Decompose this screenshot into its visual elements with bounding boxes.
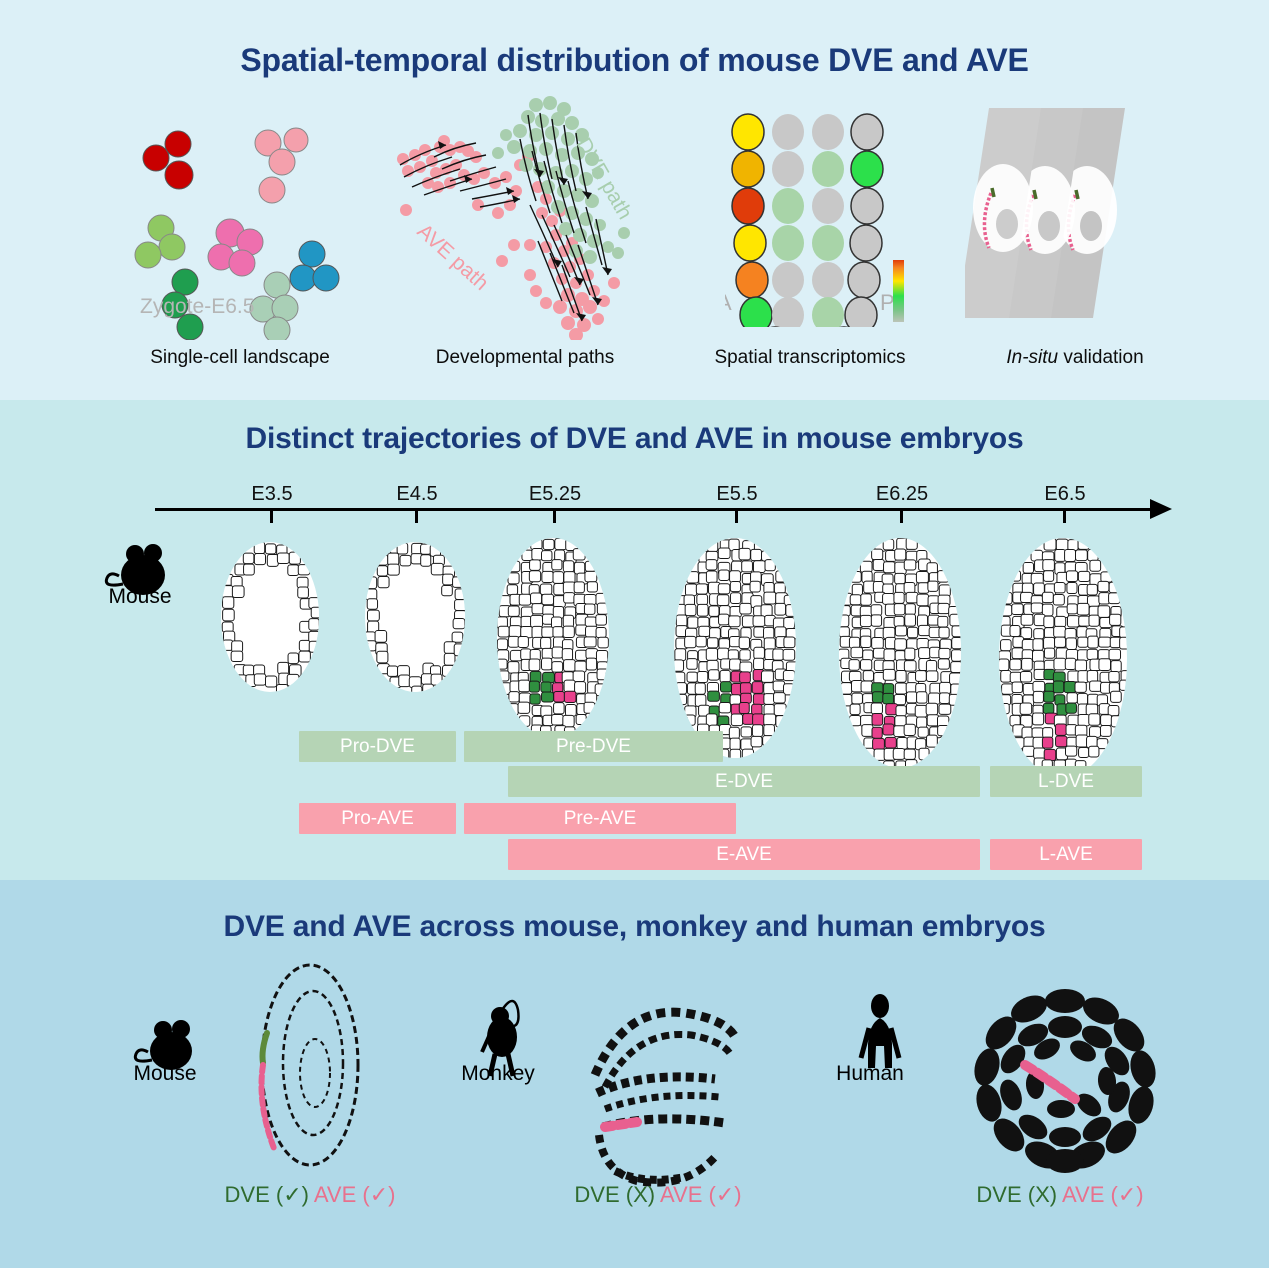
embryo-cell-mosaic (838, 538, 963, 772)
transcriptomics-column-1 (732, 114, 772, 327)
mouse-species-label-timeline: Mouse (108, 585, 171, 609)
stage-bar-l-dve[interactable]: L-DVE (990, 766, 1142, 797)
embryo-E4.5 (355, 532, 475, 702)
stage-bar-pro-ave[interactable]: Pro-AVE (299, 803, 456, 834)
timeline-tick-label-E3.5: E3.5 (251, 483, 292, 506)
timeline-tick-E4.5 (415, 508, 418, 523)
stage-bar-pre-ave[interactable]: Pre-AVE (464, 803, 736, 834)
timeline-tick-label-E4.5: E4.5 (396, 483, 437, 506)
human-embryo-cells (970, 989, 1159, 1174)
zygote-range-label: Zygote-E6.5 (140, 295, 254, 318)
timeline-tick-E5.25 (553, 508, 556, 523)
mouse-dve-verdict: DVE (✓) (225, 1182, 309, 1207)
human-species-label: Human (836, 1062, 904, 1086)
single-cell-landscape-plot: Zygote-E6.5 (120, 100, 410, 340)
timeline-tick-E6.25 (900, 508, 903, 523)
ave-path-label: AVE path (413, 220, 493, 295)
spatial-transcriptomics-plot: A P (725, 112, 905, 327)
insitu-plain-text: validation (1063, 347, 1143, 368)
timeline-tick-E6.5 (1063, 508, 1066, 523)
human-embryo-diagram (965, 985, 1165, 1175)
mouse-species-label-comparison: Mouse (133, 1062, 196, 1086)
insitu-italic-text: In-situ (1006, 347, 1058, 368)
mouse-embryo-diagram (245, 955, 375, 1175)
infographic-figure: Spatial-temporal distribution of mouse D… (0, 0, 1269, 1268)
timeline-tick-label-E6.5: E6.5 (1044, 483, 1085, 506)
stage-bar-pre-dve[interactable]: Pre-DVE (464, 731, 723, 762)
insitu-validation-plot (965, 100, 1175, 340)
embryo-cell-mosaic (999, 538, 1133, 782)
stage-bar-l-ave[interactable]: L-AVE (990, 839, 1142, 870)
human-verdict: DVE (X) AVE (✓) (976, 1182, 1143, 1208)
mouse-ave-verdict: AVE (✓) (314, 1182, 396, 1207)
monkey-ave-verdict: AVE (✓) (660, 1182, 742, 1207)
cluster-magenta (208, 219, 263, 276)
caption-insitu-validation: In-situ validation (960, 347, 1190, 369)
cluster-lightgreen (135, 215, 185, 268)
section-1-title: Spatial-temporal distribution of mouse D… (0, 42, 1269, 79)
stage-bar-e-ave[interactable]: E-AVE (508, 839, 980, 870)
section-3-title: DVE and AVE across mouse, monkey and hum… (0, 910, 1269, 944)
developmental-paths-plot: DVE path AVE path (380, 95, 650, 340)
stage-bar-pro-dve[interactable]: Pro-DVE (299, 731, 456, 762)
human-ave-verdict: AVE (✓) (1062, 1182, 1144, 1207)
caption-spatial-transcriptomics: Spatial transcriptomics (685, 347, 935, 369)
cluster-red (143, 131, 193, 189)
monkey-embryo-diagram (575, 975, 755, 1190)
stage-bar-e-dve[interactable]: E-DVE (508, 766, 980, 797)
cluster-salmon (255, 128, 308, 203)
embryo-E6.25 (829, 528, 971, 778)
mouse-verdict: DVE (✓) AVE (✓) (225, 1182, 396, 1208)
timeline-axis (155, 508, 1165, 511)
section-2-title: Distinct trajectories of DVE and AVE in … (0, 422, 1269, 456)
cluster-blue (290, 241, 339, 291)
human-dve-verdict: DVE (X) (976, 1182, 1057, 1207)
timeline-tick-E5.5 (735, 508, 738, 523)
posterior-axis-label: P (880, 290, 895, 315)
timeline-tick-E3.5 (270, 508, 273, 523)
embryo-E5.25 (487, 528, 619, 748)
timeline-tick-label-E6.25: E6.25 (876, 483, 928, 506)
monkey-species-label: Monkey (461, 1062, 535, 1086)
timeline-arrowhead (1150, 499, 1172, 519)
timeline-tick-label-E5.5: E5.5 (716, 483, 757, 506)
embryo-E6.5 (989, 528, 1137, 788)
caption-single-cell-landscape: Single-cell landscape (125, 347, 355, 369)
caption-developmental-paths: Developmental paths (410, 347, 640, 369)
monkey-verdict: DVE (X) AVE (✓) (574, 1182, 741, 1208)
transcriptomics-column-3 (812, 114, 844, 327)
expression-colorbar (893, 260, 904, 322)
transcriptomics-column-4 (845, 114, 883, 327)
anterior-axis-label: A (725, 290, 732, 315)
timeline-tick-label-E5.25: E5.25 (529, 483, 581, 506)
embryo-E3.5 (211, 532, 329, 702)
transcriptomics-column-2 (772, 114, 804, 327)
monkey-dve-verdict: DVE (X) (574, 1182, 655, 1207)
